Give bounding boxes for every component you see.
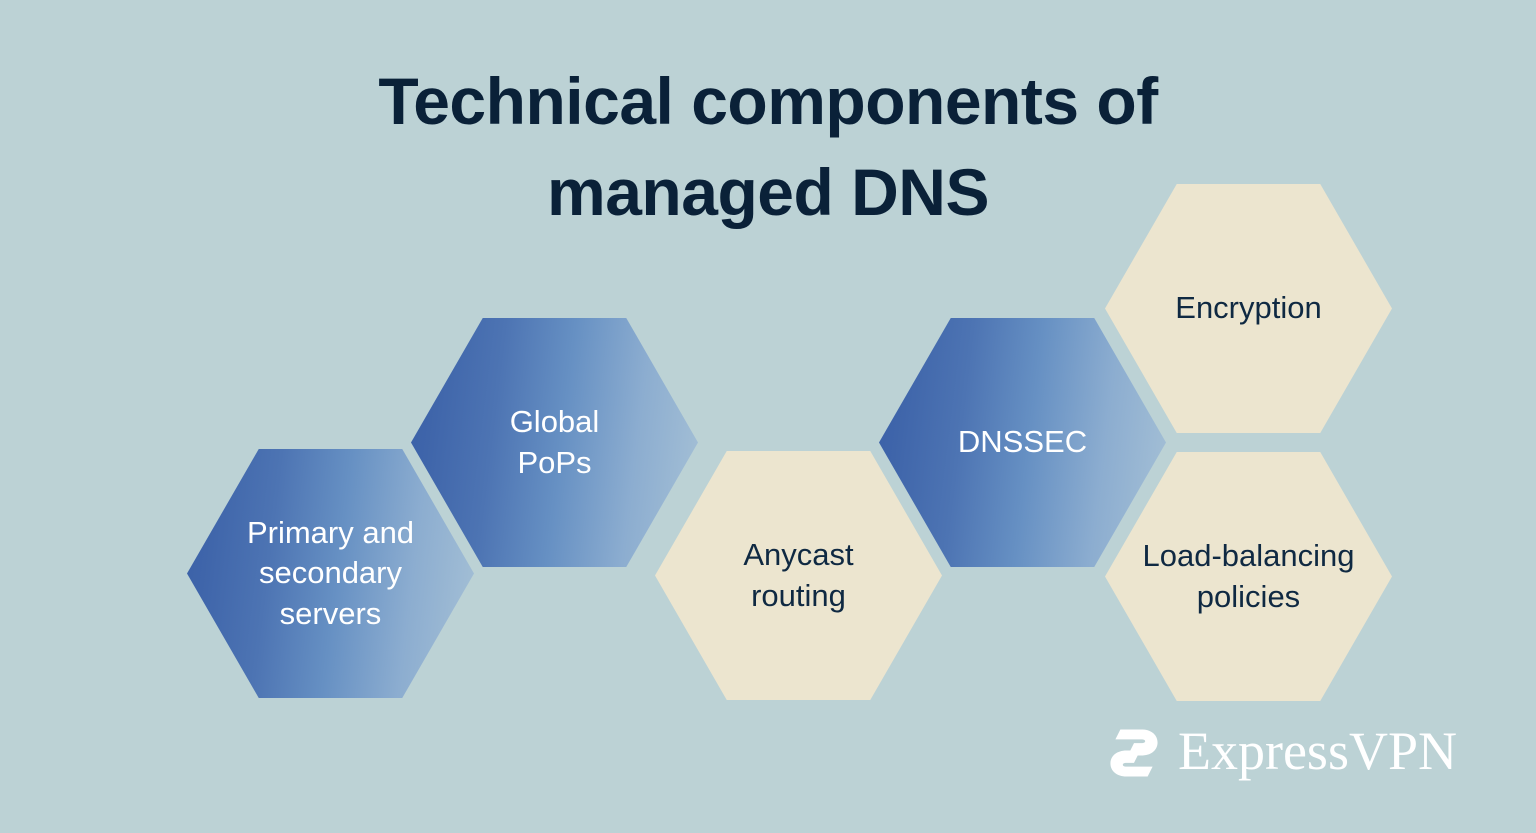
hexagon-global-pops: Global PoPs — [411, 318, 698, 567]
hexagon-anycast-routing: Anycast routing — [655, 451, 942, 700]
expressvpn-wordmark: ExpressVPN — [1178, 724, 1457, 782]
hexagon-load-balancing-policies-label: Load-balancing policies — [1128, 536, 1368, 617]
hexagon-primary-secondary-servers-label: Primary and secondary servers — [233, 513, 428, 635]
infographic-canvas: Technical components of managed DNS Encr… — [0, 0, 1536, 833]
hexagon-dnssec: DNSSEC — [879, 318, 1166, 567]
expressvpn-e-mark-icon — [1103, 722, 1165, 784]
hexagon-primary-secondary-servers: Primary and secondary servers — [187, 449, 474, 698]
hexagon-global-pops-label: Global PoPs — [496, 402, 614, 483]
hexagon-load-balancing-policies: Load-balancing policies — [1105, 452, 1392, 701]
expressvpn-logo: ExpressVPN — [1103, 722, 1457, 784]
hexagon-dnssec-label: DNSSEC — [944, 422, 1101, 463]
hexagon-encryption-label: Encryption — [1161, 288, 1335, 329]
hexagon-anycast-routing-label: Anycast routing — [729, 535, 867, 616]
